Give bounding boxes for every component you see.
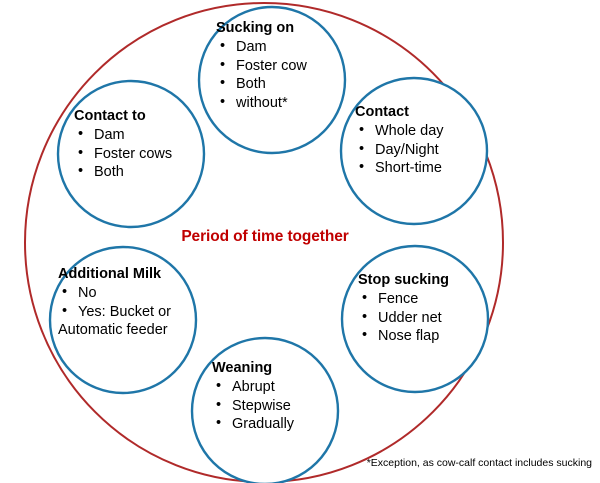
bubble-contact-to[interactable]: Contact to Dam Foster cows Both <box>74 108 224 182</box>
bubble-items-stop-sucking: Fence Udder net Nose flap <box>358 290 508 347</box>
list-item: Udder net <box>358 309 508 328</box>
list-item: Abrupt <box>212 378 362 397</box>
bubble-items-contact-to: Dam Foster cows Both <box>74 126 224 183</box>
list-item: Short-time <box>355 159 505 178</box>
list-item-continuation: Automatic feeder <box>58 321 198 340</box>
list-item: Foster cows <box>74 145 224 164</box>
list-item: Yes: Bucket or <box>58 303 198 322</box>
cow-calf-contact-diagram: Sucking on Dam Foster cow Both without* … <box>0 0 600 483</box>
list-item: Fence <box>358 290 508 309</box>
bubble-stop-sucking[interactable]: Stop sucking Fence Udder net Nose flap <box>358 272 508 346</box>
bubble-title-weaning: Weaning <box>212 360 362 378</box>
list-item: Gradually <box>212 415 362 434</box>
list-item: Stepwise <box>212 397 362 416</box>
bubble-additional-milk[interactable]: Additional Milk No Yes: Bucket or Automa… <box>58 266 198 340</box>
bubble-title-stop-sucking: Stop sucking <box>358 272 508 290</box>
bubble-items-additional-milk: No Yes: Bucket or Automatic feeder <box>58 284 198 341</box>
list-item: Foster cow <box>216 57 366 76</box>
bubble-contact[interactable]: Contact Whole day Day/Night Short-time <box>355 104 505 178</box>
bubble-title-contact-to: Contact to <box>74 108 224 126</box>
list-item: without* <box>216 94 366 113</box>
bubble-items-sucking-on: Dam Foster cow Both without* <box>216 38 366 113</box>
bubble-items-weaning: Abrupt Stepwise Gradually <box>212 378 362 435</box>
list-item: Dam <box>216 38 366 57</box>
bubble-sucking-on[interactable]: Sucking on Dam Foster cow Both without* <box>216 20 366 113</box>
list-item: Day/Night <box>355 141 505 160</box>
list-item: No <box>58 284 198 303</box>
bubble-title-sucking-on: Sucking on <box>216 20 366 38</box>
center-label: Period of time together <box>0 228 530 246</box>
list-item: Dam <box>74 126 224 145</box>
bubble-weaning[interactable]: Weaning Abrupt Stepwise Gradually <box>212 360 362 434</box>
list-item: Both <box>74 163 224 182</box>
list-item: Both <box>216 75 366 94</box>
bubble-title-additional-milk: Additional Milk <box>58 266 198 284</box>
bubble-items-contact: Whole day Day/Night Short-time <box>355 122 505 179</box>
list-item: Nose flap <box>358 327 508 346</box>
footnote: *Exception, as cow-calf contact includes… <box>300 457 592 469</box>
bubble-title-contact: Contact <box>355 104 505 122</box>
list-item: Whole day <box>355 122 505 141</box>
